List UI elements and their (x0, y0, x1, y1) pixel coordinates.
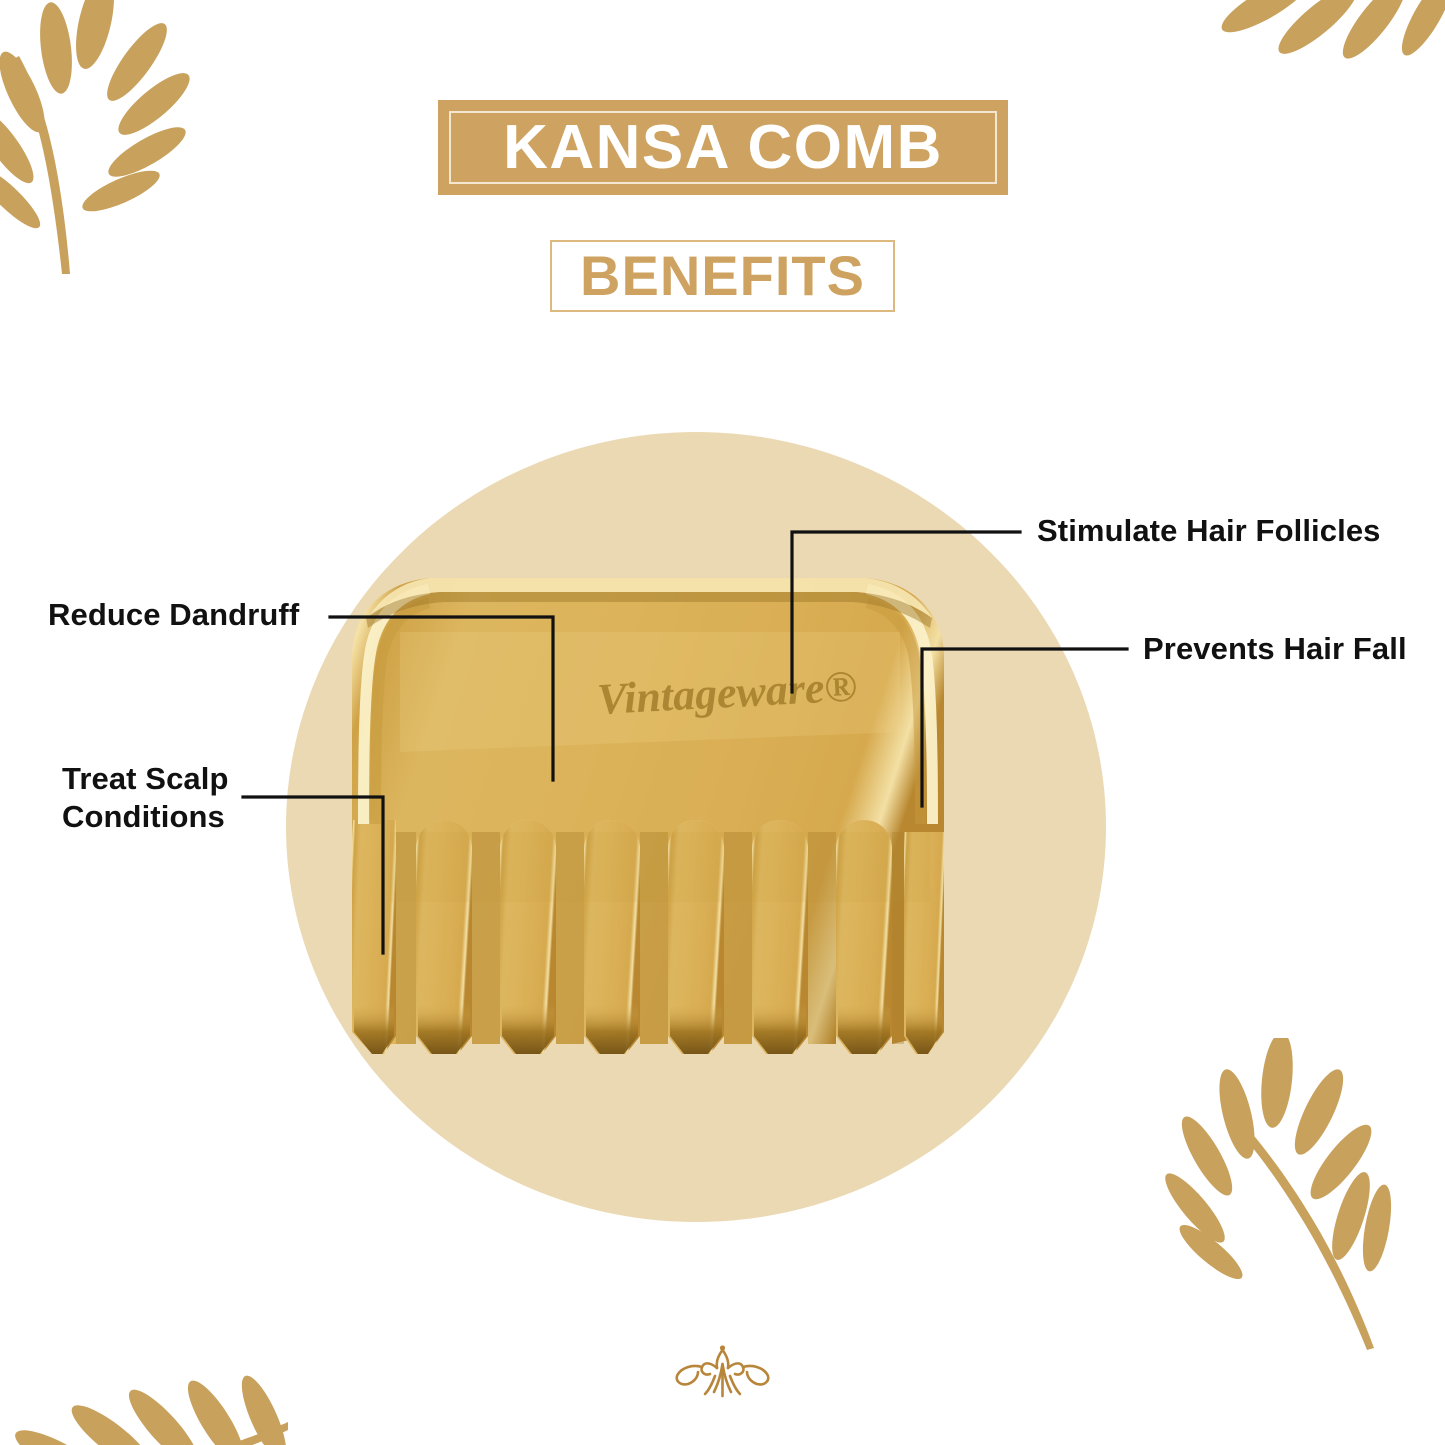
callout-treat-scalp-conditions: Treat Scalp Conditions (62, 760, 229, 836)
callout-stimulate-hair-follicles: Stimulate Hair Follicles (1037, 512, 1381, 550)
leaf-branch-icon-bottom-left (0, 1288, 288, 1445)
flourish-ornament-icon (660, 1342, 785, 1414)
product-scene: Vintageware® (280, 432, 1112, 1222)
callout-prevents-hair-fall: Prevents Hair Fall (1143, 630, 1407, 668)
leaf-branch-icon-top-right (1119, 0, 1445, 204)
title-banner: KANSA COMB (438, 100, 1008, 195)
leaf-branch-icon-top-left (0, 0, 248, 276)
comb-body (352, 578, 944, 1054)
page-subtitle: BENEFITS (580, 248, 865, 304)
leaf-branch-icon-bottom-right (1155, 1038, 1445, 1358)
infographic-canvas: KANSA COMB BENEFITS (0, 0, 1445, 1445)
callout-reduce-dandruff: Reduce Dandruff (48, 596, 299, 634)
subtitle-box: BENEFITS (550, 240, 895, 312)
kansa-comb-illustration: Vintageware® (280, 432, 1112, 1222)
page-title: KANSA COMB (503, 117, 943, 179)
